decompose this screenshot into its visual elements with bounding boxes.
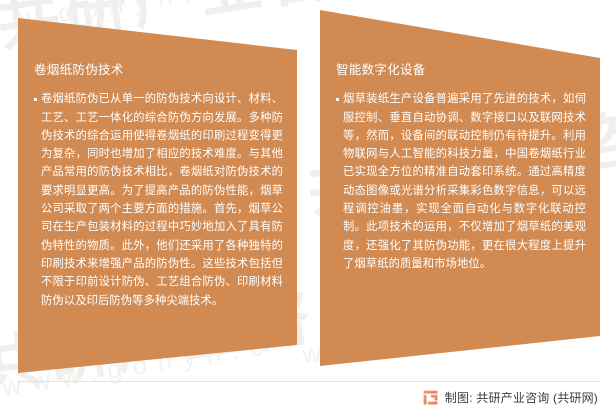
bullet-marker-icon: [34, 98, 40, 101]
panel-content: 卷烟纸防伪技术 卷烟纸防伪已从单一的防伪技术向设计、材料、工艺、工艺一体化的综合…: [34, 62, 283, 310]
bullet-item: 烟草装纸生产设备普遍采用了先进的技术，如伺服控制、垂直自动协调、数字接口以及联网…: [336, 90, 586, 273]
bullet-text: 烟草装纸生产设备普遍采用了先进的技术，如伺服控制、垂直自动协调、数字接口以及联网…: [343, 90, 586, 273]
panel-cigarette-paper-anticounterfeiting: 卷烟纸防伪技术 卷烟纸防伪已从单一的防伪技术向设计、材料、工艺、工艺一体化的综合…: [18, 0, 297, 380]
footer-credit-text: 制图: 共研产业咨询 (共研网): [445, 389, 598, 406]
bullet-marker-icon: [336, 98, 342, 101]
panel-group: 卷烟纸防伪技术 卷烟纸防伪已从单一的防伪技术向设计、材料、工艺、工艺一体化的综合…: [0, 0, 616, 411]
panel-title: 卷烟纸防伪技术: [34, 62, 283, 78]
panel-content: 智能数字化设备 烟草装纸生产设备普遍采用了先进的技术，如伺服控制、垂直自动协调、…: [336, 62, 586, 273]
panel-title: 智能数字化设备: [336, 62, 586, 78]
footer: 制图: 共研产业咨询 (共研网): [423, 386, 598, 408]
bullet-text: 卷烟纸防伪已从单一的防伪技术向设计、材料、工艺、工艺一体化的综合防伪方向发展。多…: [41, 90, 283, 310]
bullet-item: 卷烟纸防伪已从单一的防伪技术向设计、材料、工艺、工艺一体化的综合防伪方向发展。多…: [34, 90, 283, 310]
footer-divider: [18, 381, 600, 382]
gongyan-brand-logo-icon: [423, 390, 438, 405]
panel-intelligent-digital-equipment: 智能数字化设备 烟草装纸生产设备普遍采用了先进的技术，如伺服控制、垂直自动协调、…: [320, 0, 600, 372]
